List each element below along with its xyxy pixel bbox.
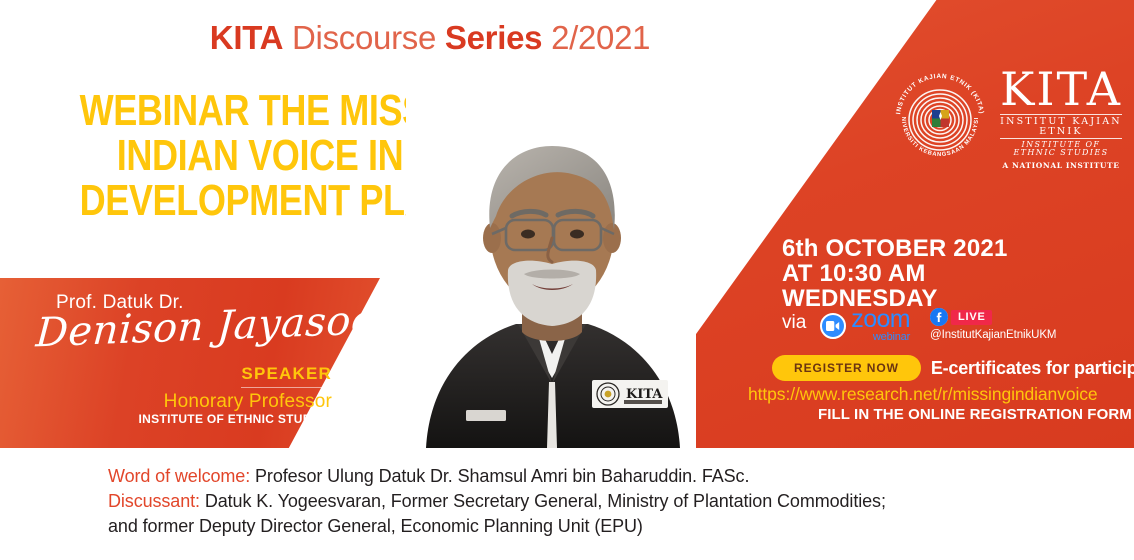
discussant-label: Discussant: xyxy=(108,491,200,511)
footer-credits: Word of welcome: Profesor Ulung Datuk Dr… xyxy=(108,464,1068,539)
discussant-line: Discussant: Datuk K. Yogeesvaran, Former… xyxy=(108,489,1068,514)
page-title: WEBINAR THE MISSING INDIAN VOICE IN DEVE… xyxy=(80,88,441,223)
wordmark-line-3: A NATIONAL INSTITUTE xyxy=(1000,162,1122,170)
registration-url-link[interactable]: https://www.research.net/r/missingindian… xyxy=(748,384,1098,405)
kita-seal-icon: INSTITUT KAJIAN ETNIK (KITA) UNIVERSITI … xyxy=(888,66,992,170)
registration-form-note: FILL IN THE ONLINE REGISTRATION FORM xyxy=(818,406,1132,423)
facebook-handle: @InstitutKajianEtnikUKM xyxy=(930,329,1056,341)
series-title-discourse: Discourse xyxy=(292,19,436,56)
wordmark-line-1: INSTITUT KAJIAN ETNIK xyxy=(1000,117,1122,136)
discussant-line-2: and former Deputy Director General, Econ… xyxy=(108,514,1068,539)
discussant-text: Datuk K. Yogeesvaran, Former Secretary G… xyxy=(200,491,886,511)
zoom-webinar-label: webinar xyxy=(851,332,910,343)
heading-line-2: INDIAN VOICE IN xyxy=(80,133,441,178)
speaker-role-wrap: SPEAKER xyxy=(18,364,338,388)
svg-text:KITA: KITA xyxy=(626,387,663,402)
speaker-portrait-illustration: KITA xyxy=(406,92,696,448)
event-date: 6th OCTOBER 2021 xyxy=(782,236,1008,261)
speaker-info: Prof. Datuk Dr. Denison Jayasooria SPEAK… xyxy=(18,292,338,426)
live-badge: LIVE xyxy=(951,310,992,325)
speaker-role-badge: SPEAKER xyxy=(241,364,332,388)
event-time: AT 10:30 AM xyxy=(782,261,1008,286)
welcome-line: Word of welcome: Profesor Ulung Datuk Dr… xyxy=(108,464,1068,489)
welcome-text: Profesor Ulung Datuk Dr. Shamsul Amri bi… xyxy=(250,466,749,486)
video-camera-icon xyxy=(820,313,846,339)
speaker-title: Honorary Professor xyxy=(18,391,338,413)
zoom-webinar-badge[interactable]: zoom webinar xyxy=(820,308,910,343)
wordmark-kita: KITA xyxy=(1000,66,1122,112)
facebook-live-row: LIVE xyxy=(930,308,1056,326)
zoom-wordmark: zoom xyxy=(851,305,910,333)
welcome-label: Word of welcome: xyxy=(108,466,250,486)
heading-line-1: WEBINAR THE MISSING xyxy=(80,88,441,133)
speaker-institute: INSTITUTE OF ETHNIC STUDIES xyxy=(18,412,338,426)
series-title-number: 2/2021 xyxy=(551,19,650,56)
wordmark-rule-mid xyxy=(1000,138,1122,139)
heading-line-3: DEVELOPMENT PLANNING xyxy=(80,178,441,223)
speaker-photo: KITA xyxy=(406,92,696,448)
facebook-icon xyxy=(930,308,948,326)
register-now-button[interactable]: REGISTER NOW xyxy=(772,355,921,381)
webinar-poster: KITA Discourse Series 2/2021 WEBINAR THE… xyxy=(0,0,1134,560)
facebook-live-badge[interactable]: LIVE @InstitutKajianEtnikUKM xyxy=(930,308,1056,341)
event-details: 6th OCTOBER 2021 AT 10:30 AM WEDNESDAY xyxy=(782,236,1008,311)
ecertificates-note: E-certificates for participants! xyxy=(931,358,1134,379)
platform-row: via zoom webinar LIVE @InstitutKajianEtn… xyxy=(782,308,1056,343)
zoom-text-wrap: zoom webinar xyxy=(851,308,910,343)
series-title-kita: KITA xyxy=(210,19,283,56)
series-title: KITA Discourse Series 2/2021 xyxy=(0,18,860,58)
registration-row: REGISTER NOW E-certificates for particip… xyxy=(772,355,1134,381)
kita-wordmark: KITA INSTITUT KAJIAN ETNIK INSTITUTE OF … xyxy=(1000,66,1122,170)
wordmark-line-2: INSTITUTE OF ETHNIC STUDIES xyxy=(1000,141,1122,157)
kita-logo: INSTITUT KAJIAN ETNIK (KITA) UNIVERSITI … xyxy=(888,62,1116,174)
series-title-series: Series xyxy=(445,19,542,56)
via-label: via xyxy=(782,308,806,338)
